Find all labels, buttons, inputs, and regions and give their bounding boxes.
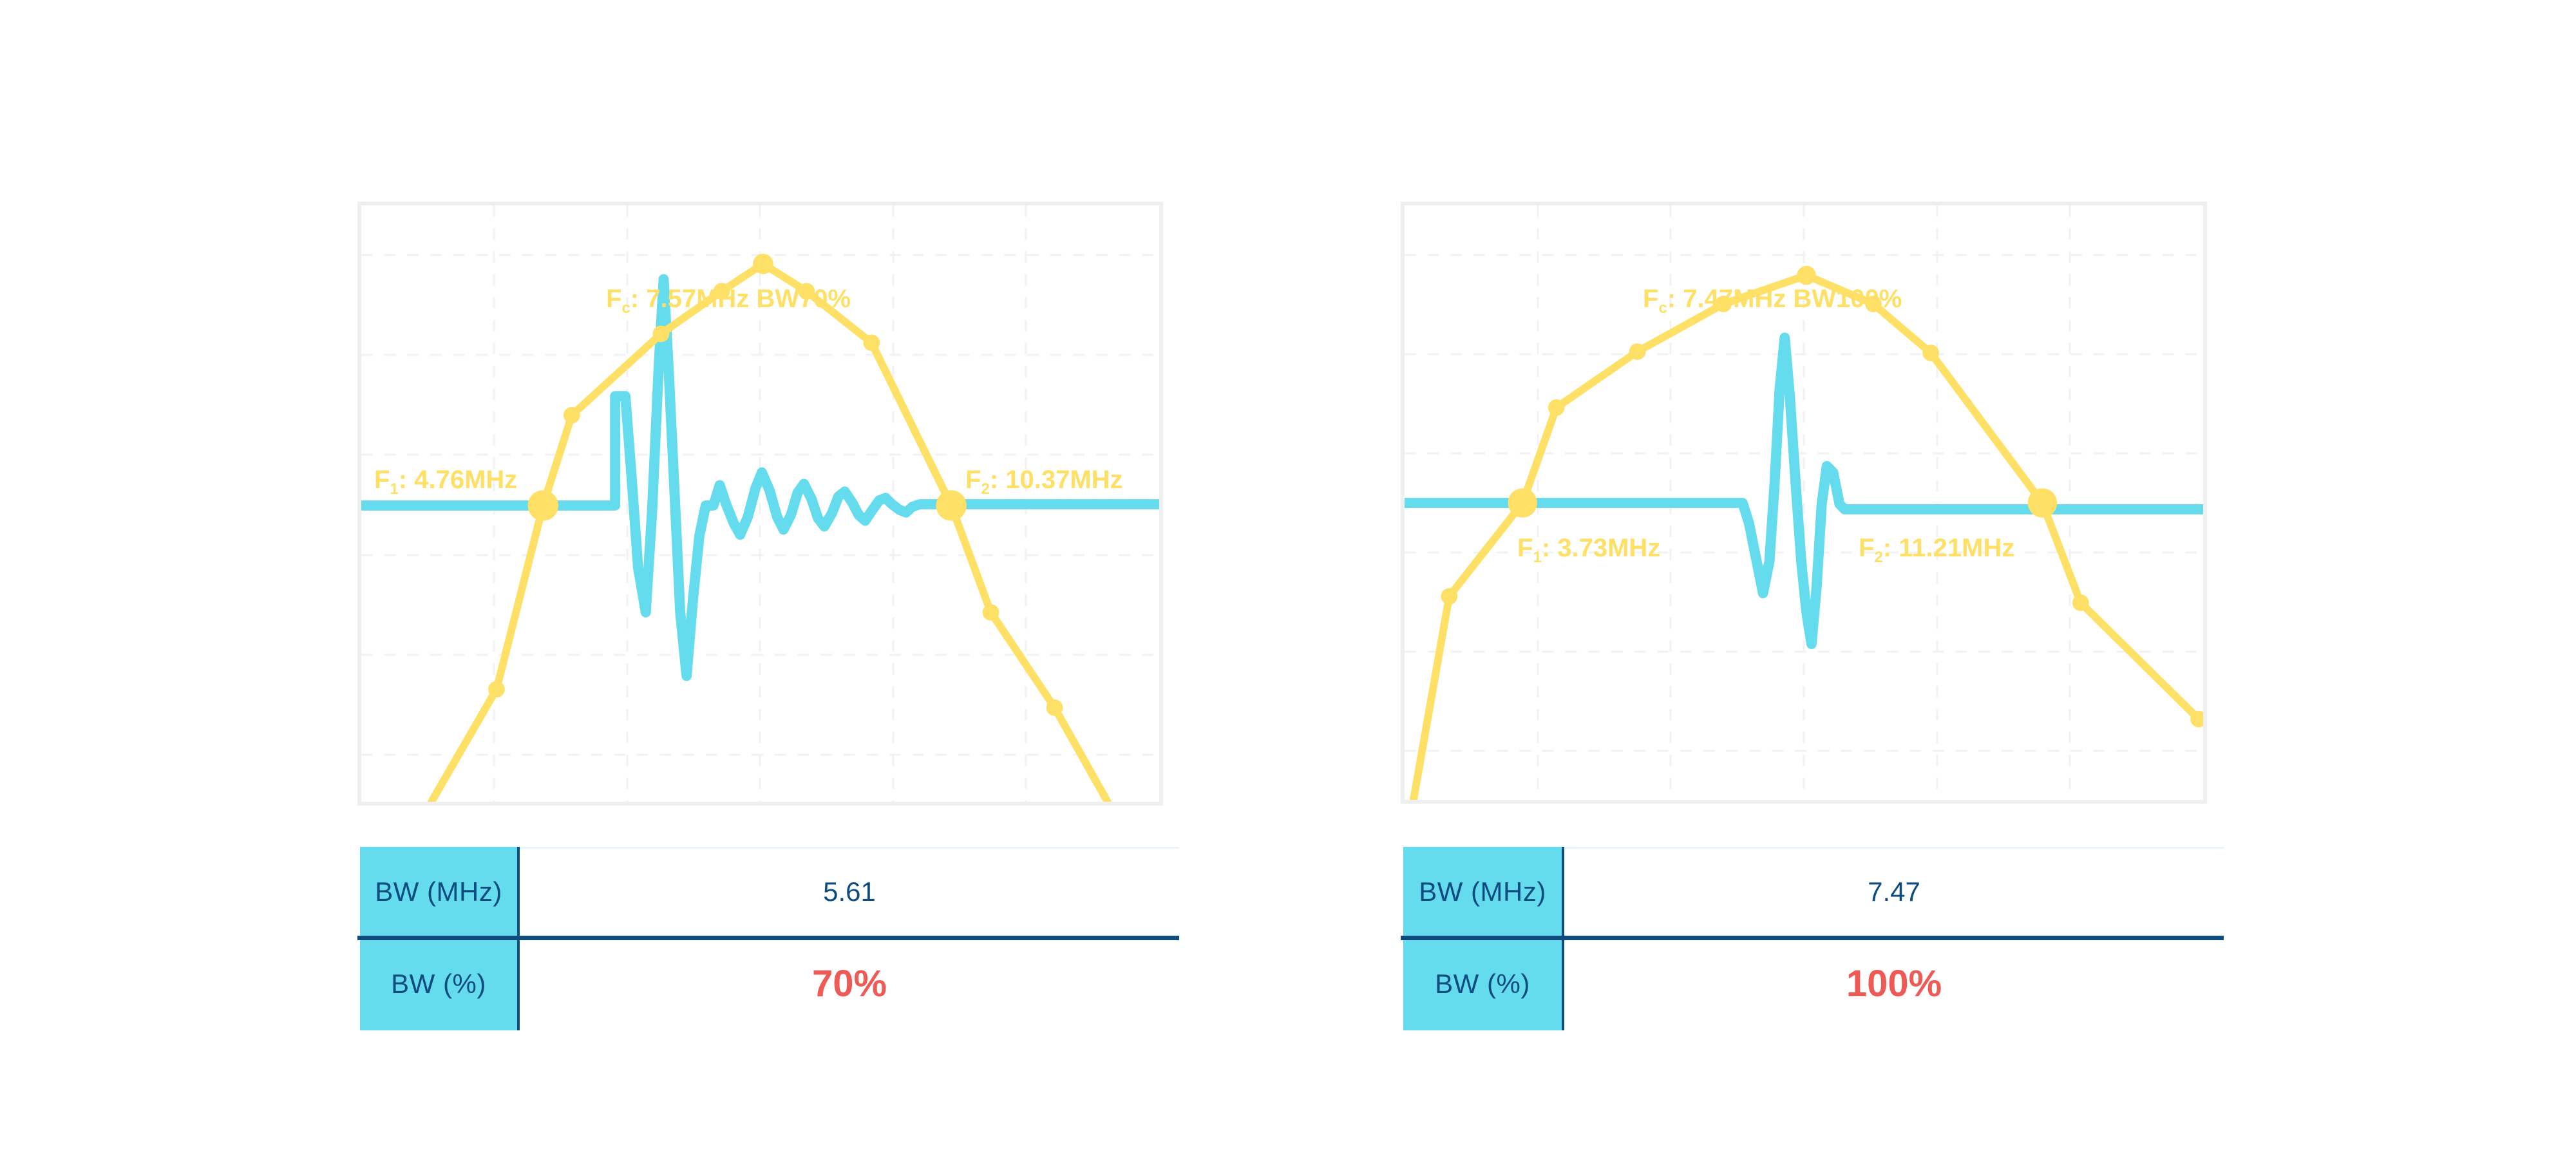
bw-table-right: BW (MHz) 7.47 BW (%) 100% xyxy=(1403,847,2224,1030)
table-row: BW (MHz) 7.47 xyxy=(1403,847,2224,937)
f2-marker-right xyxy=(2028,488,2058,517)
bw-mhz-value-right: 7.47 xyxy=(1868,876,1920,907)
fc-text-left: : 7.57MHz BW70% xyxy=(630,285,851,313)
bw-mhz-label-cell-left: BW (MHz) xyxy=(360,847,520,937)
f2-subscript-left: 2 xyxy=(981,480,989,498)
f2-text-right: : 11.21MHz xyxy=(1883,534,2015,562)
fc-text-right: : 7.47MHz BW100% xyxy=(1667,285,1902,313)
fc-symbol-left: F xyxy=(606,285,621,313)
fc-symbol-right: F xyxy=(1643,285,1658,313)
f2-symbol-right: F xyxy=(1859,534,1874,562)
panel-right: Fc: 7.47MHz BW100% F1: 3.73MHz F2: 11.21… xyxy=(1401,202,2207,1031)
fc-annotation-left: Fc: 7.57MHz BW70% xyxy=(606,285,851,317)
fc-subscript-left: c xyxy=(621,299,630,317)
bw-mhz-label-left: BW (MHz) xyxy=(375,876,502,907)
plot-frame-right: Fc: 7.47MHz BW100% F1: 3.73MHz F2: 11.21… xyxy=(1401,202,2207,804)
f2-annotation-right: F2: 11.21MHz xyxy=(1859,534,2014,567)
f1-marker-right xyxy=(1508,488,1537,517)
bw-mhz-value-cell-right: 7.47 xyxy=(1564,847,2224,937)
panel-left: Fc: 7.57MHz BW70% F1: 4.76MHz F2: 10.37M… xyxy=(357,202,1163,1031)
table-row-divider-right xyxy=(1401,936,2224,940)
table-row-divider-left xyxy=(357,936,1179,940)
bw-mhz-value-left: 5.61 xyxy=(823,876,876,907)
f1-symbol-left: F xyxy=(374,466,390,494)
bw-pct-label-cell-right: BW (%) xyxy=(1403,937,1564,1030)
plot-frame-left: Fc: 7.57MHz BW70% F1: 4.76MHz F2: 10.37M… xyxy=(357,202,1163,806)
bw-pct-value-cell-right: 100% xyxy=(1564,937,2224,1030)
f1-marker-left xyxy=(527,490,558,520)
fc-subscript-right: c xyxy=(1658,299,1667,317)
f1-symbol-right: F xyxy=(1517,534,1533,562)
bw-pct-value-right: 100% xyxy=(1846,962,1942,1005)
table-row: BW (%) 100% xyxy=(1403,937,2224,1030)
spectrum-curve-left xyxy=(431,264,1108,802)
bw-pct-value-left: 70% xyxy=(812,962,887,1005)
f1-annotation-right: F1: 3.73MHz xyxy=(1517,534,1660,567)
f1-text-right: : 3.73MHz xyxy=(1542,534,1661,562)
bw-pct-label-left: BW (%) xyxy=(391,969,486,999)
bw-table-left: BW (MHz) 5.61 BW (%) 70% xyxy=(360,847,1179,1030)
bw-pct-value-cell-left: 70% xyxy=(520,937,1179,1030)
f2-annotation-left: F2: 10.37MHz xyxy=(965,466,1123,498)
bw-mhz-value-cell-left: 5.61 xyxy=(520,847,1179,937)
bw-mhz-label-right: BW (MHz) xyxy=(1419,876,1546,907)
f2-marker-left xyxy=(936,490,967,520)
table-top-rule-right xyxy=(1564,847,2224,849)
f2-symbol-left: F xyxy=(965,466,981,494)
bw-mhz-label-cell-right: BW (MHz) xyxy=(1403,847,1564,937)
bw-pct-label-right: BW (%) xyxy=(1435,969,1530,999)
f1-text-left: : 4.76MHz xyxy=(399,466,518,494)
f2-text-left: : 10.37MHz xyxy=(990,466,1123,494)
f1-subscript-right: 1 xyxy=(1533,549,1541,566)
f1-annotation-left: F1: 4.76MHz xyxy=(374,466,517,498)
bw-pct-label-cell-left: BW (%) xyxy=(360,937,520,1030)
f1-subscript-left: 1 xyxy=(390,480,398,498)
fc-annotation-right: Fc: 7.47MHz BW100% xyxy=(1643,285,1902,317)
table-top-rule-left xyxy=(520,847,1179,849)
table-row: BW (MHz) 5.61 xyxy=(360,847,1179,937)
f2-subscript-right: 2 xyxy=(1874,549,1882,566)
table-row: BW (%) 70% xyxy=(360,937,1179,1030)
